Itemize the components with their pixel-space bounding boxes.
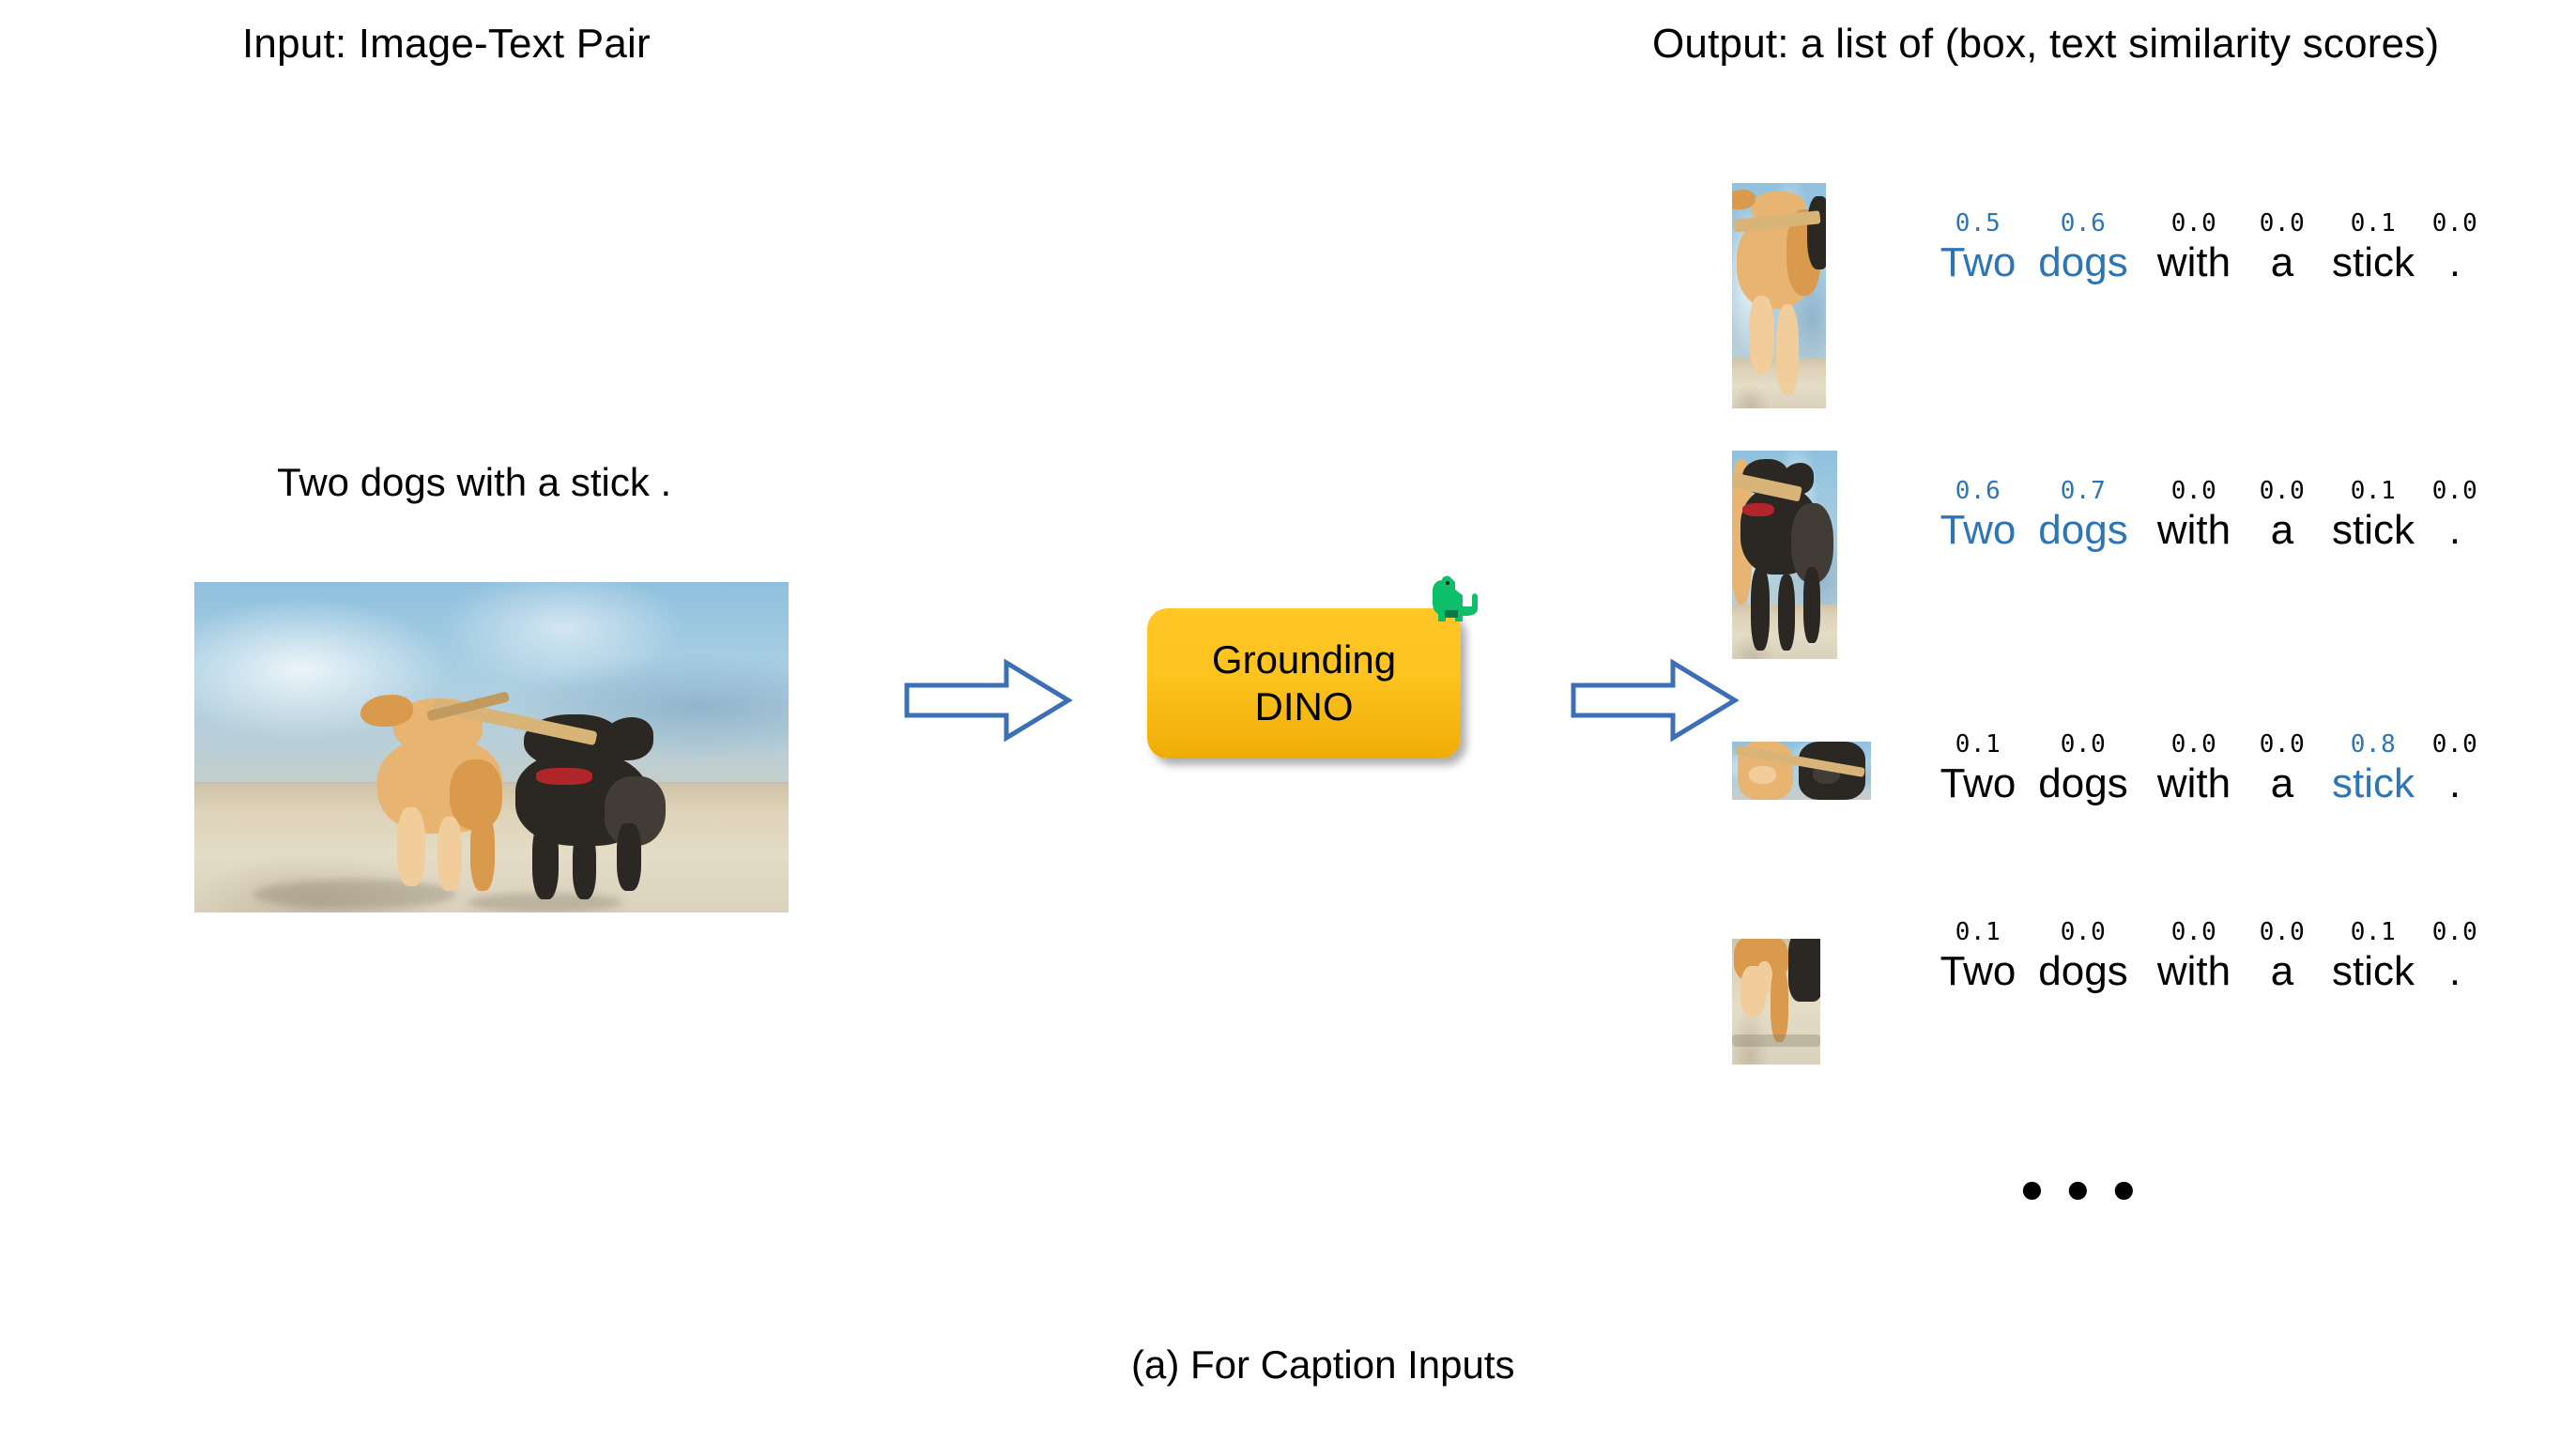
model-title-line1: Grounding [1212,636,1396,683]
score-token: 0.8 [2316,730,2430,759]
score-token: 0.0 [2248,209,2316,238]
score-token: 0.6 [1929,477,2027,505]
score-token: 0.0 [2248,918,2316,946]
arrow-right-icon [903,657,1072,743]
grounding-dino-box[interactable]: Grounding DINO [1147,608,1461,759]
score-token: 0.0 [2027,918,2139,946]
score-token: 0.1 [2316,477,2430,505]
output-heading: Output: a list of (box, text similarity … [1652,21,2439,68]
word-token: with [2139,507,2248,554]
figure-caption: (a) For Caption Inputs [1131,1342,1515,1387]
score-token: 0.0 [2139,730,2248,759]
arrow-image-to-model [903,657,1072,743]
word-token: stick [2316,760,2430,807]
score-token: 0.0 [2139,209,2248,238]
word-token: stick [2316,239,2430,286]
word-token: Two [1929,239,2027,286]
box-crop-thumbnail [1732,742,1871,800]
score-token: 0.1 [2316,209,2430,238]
word-token: . [2430,507,2479,554]
score-token: 0.0 [2430,477,2479,505]
word-token: a [2248,507,2316,554]
word-token: stick [2316,948,2430,995]
caption-tokens: Two dogs with a stick . [1929,239,2479,286]
caption-tokens: Two dogs with a stick . [1929,507,2479,554]
score-token: 0.0 [2248,477,2316,505]
input-caption-text: Two dogs with a stick . [277,460,671,505]
arrow-model-to-output [1570,657,1739,743]
similarity-scores: 0.5 0.6 0.0 0.0 0.1 0.0 [1929,209,2479,238]
word-token: stick [2316,507,2430,554]
box-crop-thumbnail [1732,939,1820,1065]
score-token: 0.0 [2430,730,2479,759]
score-token: 0.0 [2027,730,2139,759]
word-token: with [2139,239,2248,286]
input-heading: Input: Image-Text Pair [242,21,651,68]
more-results-ellipsis: ••• [2014,1162,2152,1224]
word-token: a [2248,948,2316,995]
score-token: 0.0 [2139,918,2248,946]
caption-tokens: Two dogs with a stick . [1929,948,2479,995]
arrow-right-icon [1570,657,1739,743]
word-token: Two [1929,948,2027,995]
word-token: dogs [2027,239,2139,286]
word-token: . [2430,948,2479,995]
input-image [194,582,789,912]
score-token: 0.0 [2248,730,2316,759]
dinosaur-icon [1419,575,1481,627]
word-token: with [2139,948,2248,995]
similarity-scores: 0.1 0.0 0.0 0.0 0.1 0.0 [1929,918,2479,946]
score-token: 0.1 [1929,918,2027,946]
caption-tokens: Two dogs with a stick . [1929,760,2479,807]
box-crop-thumbnail [1732,451,1837,659]
word-token: a [2248,239,2316,286]
word-token: . [2430,760,2479,807]
word-token: Two [1929,760,2027,807]
similarity-scores: 0.6 0.7 0.0 0.0 0.1 0.0 [1929,477,2479,505]
word-token: with [2139,760,2248,807]
model-title-line2: DINO [1255,683,1354,730]
box-crop-thumbnail [1732,183,1826,408]
word-token: dogs [2027,507,2139,554]
score-token: 0.1 [2316,918,2430,946]
score-token: 0.0 [2139,477,2248,505]
similarity-scores: 0.1 0.0 0.0 0.0 0.8 0.0 [1929,730,2479,759]
word-token: dogs [2027,948,2139,995]
score-token: 0.5 [1929,209,2027,238]
word-token: dogs [2027,760,2139,807]
row-scores-and-text: 0.1 0.0 0.0 0.0 0.1 0.0 Two dogs with a … [1929,918,2479,995]
score-token: 0.1 [1929,730,2027,759]
word-token: . [2430,239,2479,286]
score-token: 0.7 [2027,477,2139,505]
row-scores-and-text: 0.5 0.6 0.0 0.0 0.1 0.0 Two dogs with a … [1929,209,2479,286]
figure-canvas: Input: Image-Text Pair Output: a list of… [0,0,2576,1441]
score-token: 0.0 [2430,209,2479,238]
row-scores-and-text: 0.6 0.7 0.0 0.0 0.1 0.0 Two dogs with a … [1929,477,2479,554]
word-token: a [2248,760,2316,807]
score-token: 0.6 [2027,209,2139,238]
row-scores-and-text: 0.1 0.0 0.0 0.0 0.8 0.0 Two dogs with a … [1929,730,2479,807]
score-token: 0.0 [2430,918,2479,946]
word-token: Two [1929,507,2027,554]
